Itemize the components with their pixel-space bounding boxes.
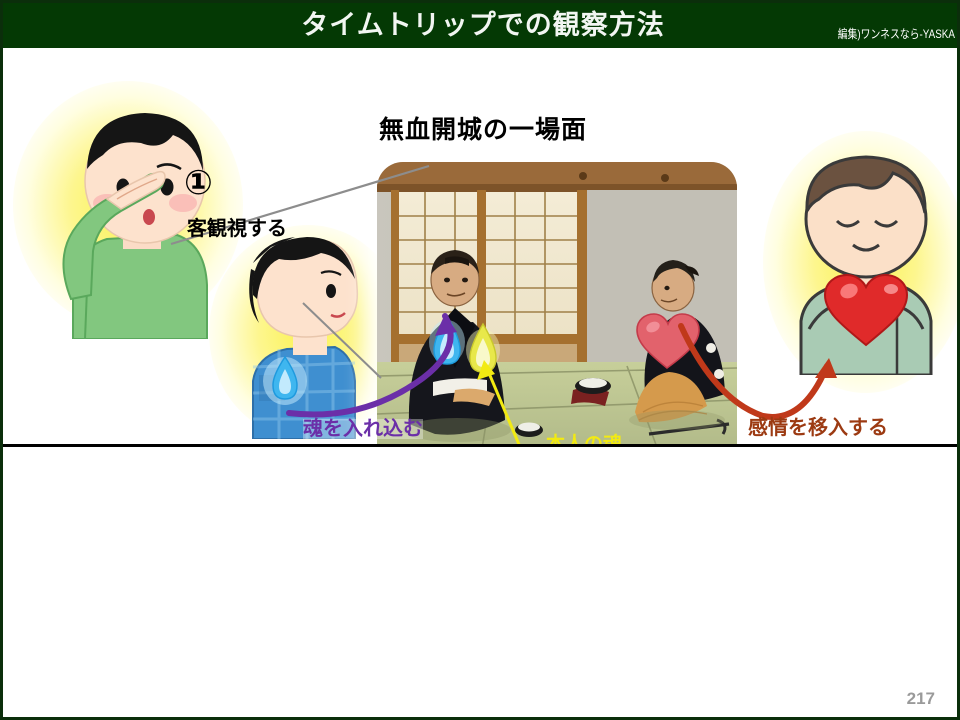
character-soul-insert-boy [235, 229, 387, 439]
historical-photo [377, 162, 737, 446]
diagram-subtitle: 無血開城の一場面 [3, 110, 957, 146]
page-number: 217 [907, 689, 935, 709]
photo-scene [377, 162, 737, 446]
label-objective-view: 客観視する [187, 219, 287, 239]
title-bar: タイムトリップでの観察方法 編集)ワンネスなら-YASKA [3, 3, 960, 48]
page-title: タイムトリップでの観察方法 [3, 3, 960, 48]
marker-number-one: ① [184, 166, 213, 200]
panel-divider [3, 444, 957, 447]
slide: タイムトリップでの観察方法 編集)ワンネスなら-YASKA [0, 0, 960, 720]
diagram-panel: 無血開城の一場面 ① ② ③ 客観視する 魂を入れ込む 本人の魂 感情を移入する [3, 48, 957, 446]
body-text-panel: 例えば、過去を見る方法として、3つの方法があります。 まず、見たい過去の波動に自… [3, 449, 957, 717]
editor-credit: 編集)ワンネスなら-YASKA [838, 25, 955, 42]
character-emotion-boy [781, 143, 951, 375]
label-soul-insert: 魂を入れ込む [303, 419, 423, 439]
label-emotion-transfer: 感情を移入する [748, 418, 888, 438]
